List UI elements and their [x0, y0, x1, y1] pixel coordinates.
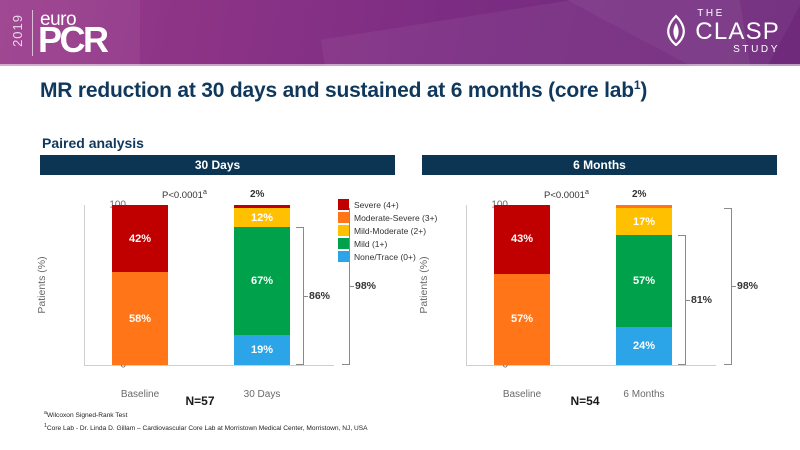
y-tick-0-right: 0 [514, 365, 518, 366]
footnote-a-text: Wilcoxon Signed-Rank Test [47, 412, 128, 419]
bracket-label-81-right: 81% [691, 294, 712, 306]
page-title-tail: ) [640, 79, 647, 102]
bracket-label-98-left: 98% [355, 280, 376, 292]
pvalue-text-left: P<0.0001 [162, 190, 203, 201]
legend-swatch-moderate-severe-icon [338, 212, 349, 223]
footnote-core-lab: 1Core Lab - Dr. Linda D. Gillam – Cardio… [44, 423, 368, 432]
year-label: 2019 [10, 14, 25, 47]
legend-swatch-severe-icon [338, 199, 349, 210]
y-axis-label-left: Patients (%) [36, 256, 48, 313]
segment-mild-moderate-right: 17% [616, 208, 672, 235]
subtitle-paired-analysis: Paired analysis [42, 135, 144, 151]
bracket-outer-right [724, 208, 732, 365]
segment-none-trace: 19% [234, 335, 290, 365]
footnote-1-text: Core Lab - Dr. Linda D. Gillam – Cardiov… [47, 425, 368, 432]
chart-panel-6-months: Patients (%) 0 20 40 60 80 100 57% 43% B… [414, 185, 796, 400]
segment-moderate-severe: 58% [112, 272, 168, 365]
plot-area-right: 0 20 40 60 80 100 57% 43% Baseline 24% 5… [466, 205, 716, 365]
brand-pcr-label: PCR [38, 22, 107, 58]
bar-followup-right[interactable]: 24% 57% 17% [616, 205, 672, 365]
bracket-inner-right [678, 235, 686, 365]
bracket-label-86-left: 86% [309, 290, 330, 302]
cap-label-left: 2% [250, 189, 264, 200]
clasp-study-label: STUDY [733, 45, 780, 55]
bar-baseline-right[interactable]: 57% 43% [494, 205, 550, 365]
pvalue-sup-right: a [585, 189, 589, 196]
segment-moderate-severe-right: 57% [494, 274, 550, 365]
chart-panel-30-days: Patients (%) 0 20 40 60 80 100 58% 42% B… [32, 185, 414, 400]
segment-severe-right: 43% [494, 205, 550, 274]
bracket-outer-tick-right [732, 286, 736, 287]
legend-label-none-trace: None/Trace (0+) [354, 252, 416, 262]
page-title: MR reduction at 30 days and sustained at… [40, 78, 770, 103]
clasp-main-label: CLASP [695, 20, 780, 44]
segment-severe: 42% [112, 205, 168, 272]
legend-swatch-mild-icon [338, 238, 349, 249]
legend-swatch-mild-moderate-icon [338, 225, 349, 236]
plot-area-left: 0 20 40 60 80 100 58% 42% Baseline 19% 6… [84, 205, 334, 365]
pvalue-left: P<0.0001a [162, 189, 207, 201]
segment-mild: 67% [234, 227, 290, 334]
cap-label-right: 2% [632, 189, 646, 200]
petal-icon [663, 14, 689, 51]
header-underline [0, 64, 800, 66]
segment-mild-right: 57% [616, 235, 672, 326]
legend-label-severe: Severe (4+) [354, 200, 399, 210]
page-title-text: MR reduction at 30 days and sustained at… [40, 79, 634, 102]
legend-swatch-none-trace-icon [338, 251, 349, 262]
section-header-6-months: 6 Months [422, 155, 777, 175]
page-header: 2019 euro PCR THE CLASP STUDY [0, 0, 800, 66]
segment-mild-moderate: 12% [234, 208, 290, 227]
pvalue-right: P<0.0001a [544, 189, 589, 201]
bar-followup-left[interactable]: 19% 67% 12% [234, 205, 290, 365]
year-divider [32, 10, 33, 56]
bar-baseline-left[interactable]: 58% 42% [112, 205, 168, 365]
pvalue-text-right: P<0.0001 [544, 190, 585, 201]
y-tick-0: 0 [132, 365, 136, 366]
bracket-inner-left [296, 227, 304, 365]
sample-size-left: N=57 [140, 394, 260, 408]
section-header-30-days: 30 Days [40, 155, 395, 175]
bracket-outer-tick-left [350, 286, 354, 287]
clasp-study-logo: THE CLASP STUDY [663, 9, 780, 55]
pvalue-sup-left: a [203, 189, 207, 196]
bracket-inner-tick-right [686, 300, 690, 301]
y-axis-label-right: Patients (%) [418, 256, 430, 313]
bracket-inner-tick-left [304, 296, 308, 297]
footnote-wilcoxon: aWilcoxon Signed-Rank Test [44, 410, 127, 419]
sample-size-right: N=54 [525, 394, 645, 408]
bracket-label-98-right: 98% [737, 280, 758, 292]
segment-none-trace-right: 24% [616, 327, 672, 365]
legend-label-mild: Mild (1+) [354, 239, 387, 249]
